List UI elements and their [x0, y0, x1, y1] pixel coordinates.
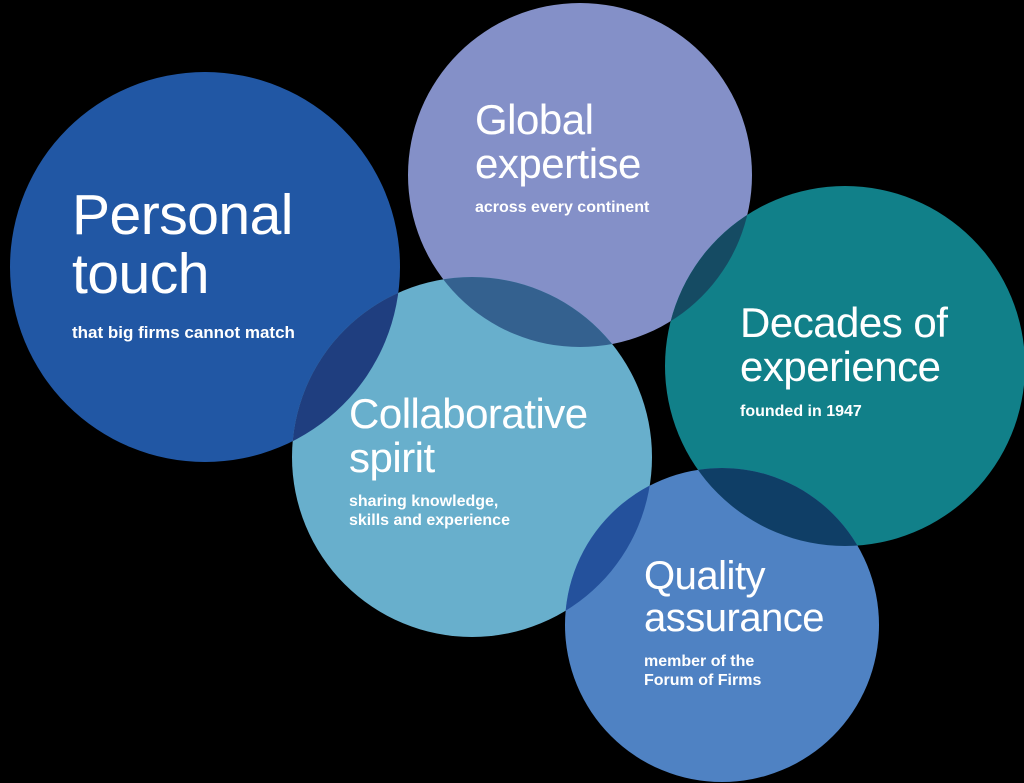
headline-decades-of-experience: Decades of experience	[740, 301, 1024, 388]
circles-diagram: Personal touch that big firms cannot mat…	[0, 0, 1024, 783]
label-collaborative-spirit: Collaborative spirit sharing knowledge, …	[349, 392, 649, 531]
label-global-expertise: Global expertise across every continent	[475, 98, 765, 218]
label-personal-touch: Personal touch that big firms cannot mat…	[72, 186, 402, 343]
subtext-collaborative-spirit: sharing knowledge, skills and experience	[349, 493, 649, 531]
headline-global-expertise: Global expertise	[475, 98, 765, 185]
headline-collaborative-spirit: Collaborative spirit	[349, 392, 649, 479]
label-decades-of-experience: Decades of experience founded in 1947	[740, 301, 1024, 422]
subtext-personal-touch: that big firms cannot match	[72, 323, 402, 343]
subtext-decades-of-experience: founded in 1947	[740, 403, 1024, 422]
headline-personal-touch: Personal touch	[72, 186, 402, 305]
subtext-quality-assurance: member of the Forum of Firms	[644, 653, 924, 691]
subtext-global-expertise: across every continent	[475, 199, 765, 218]
headline-quality-assurance: Quality assurance	[644, 556, 924, 639]
label-quality-assurance: Quality assurance member of the Forum of…	[644, 556, 924, 691]
